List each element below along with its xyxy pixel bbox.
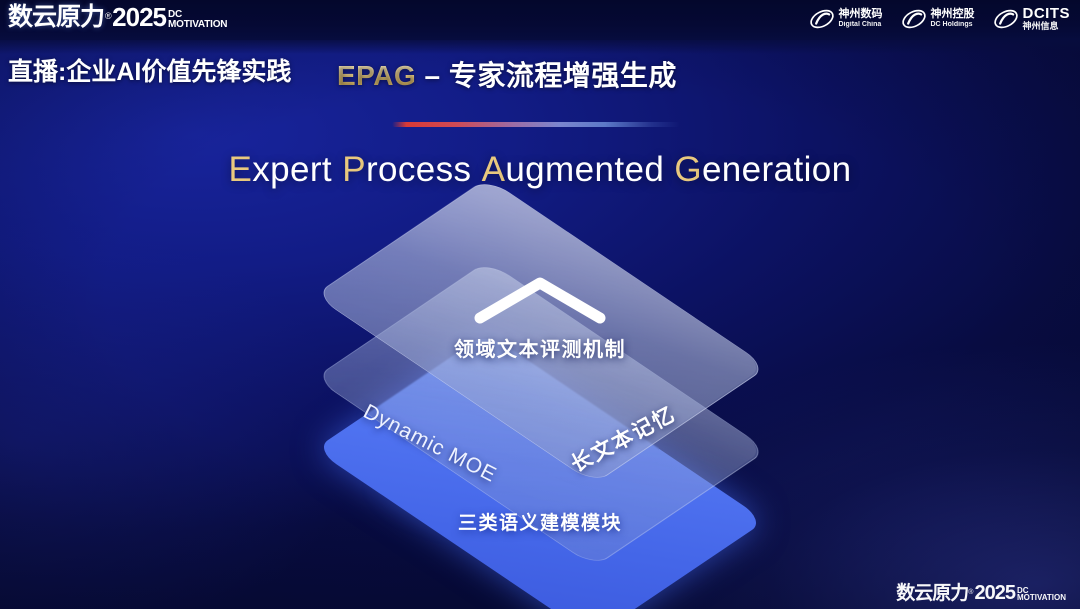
partner-logo-group: 神州数码 Digital China 神州控股 DC Holdings DCIT…	[809, 6, 1071, 31]
partner-logo-dcits: DCITS 神州信息	[993, 6, 1071, 31]
brand-logo: 数云原力 ® 2025 DC MOTIVATION	[8, 4, 227, 30]
slide-title: EPAG – 专家流程增强生成	[337, 54, 677, 94]
chevron-up-icon	[470, 272, 610, 328]
watermark-dc-line2: MOTIVATION	[1017, 594, 1066, 602]
gradient-divider	[392, 122, 680, 127]
partner-name-en: DC Holdings	[931, 21, 975, 28]
watermark-name-cn: 数云原力	[896, 584, 968, 603]
swirl-logo-icon	[901, 7, 927, 31]
brand-dc-line2: MOTIVATION	[168, 20, 227, 30]
slide-title-acronym: EPAG	[337, 60, 416, 91]
partner-logo-digital-china: 神州数码 Digital China	[809, 7, 883, 31]
brand-registered-mark: ®	[105, 11, 111, 21]
stack-layer-top-caption: 领域文本评测机制	[0, 333, 1080, 362]
watermark-logo: 数云原力 ® 2025 DC MOTIVATION	[896, 583, 1066, 603]
live-stream-title: 直播:企业AI价值先锋实践	[8, 52, 291, 88]
slide-title-dash: –	[416, 60, 449, 91]
swirl-logo-icon	[809, 7, 835, 31]
partner-logo-dc-holdings: 神州控股 DC Holdings	[901, 7, 975, 31]
headline-rest-expert: xpert	[252, 150, 332, 189]
partner-name-cn: 神州控股	[931, 9, 975, 21]
headline-rest-process: rocess	[366, 150, 472, 189]
watermark-registered-mark: ®	[968, 589, 973, 596]
slide-root: 数云原力 ® 2025 DC MOTIVATION 神州数码 Digital C…	[0, 0, 1080, 609]
partner-name-cn: DCITS	[1023, 6, 1071, 22]
slide-title-subtitle: 专家流程增强生成	[449, 60, 677, 91]
brand-dc-motivation: DC MOTIVATION	[168, 10, 227, 29]
partner-name-en: Digital China	[839, 21, 883, 28]
partner-label-dcits: DCITS 神州信息	[1023, 6, 1071, 31]
headline-cap-p: P	[342, 150, 366, 189]
headline-rest-augmented: ugmented	[505, 150, 664, 189]
partner-label-dc-holdings: 神州控股 DC Holdings	[931, 9, 975, 28]
brand-name-cn: 数云原力	[8, 5, 104, 30]
headline-cap-g: G	[674, 150, 702, 189]
headline-cap-e: E	[229, 150, 253, 189]
stack-layer-bottom-caption: 三类语义建模模块	[0, 508, 1080, 535]
headline-rest-generation: eneration	[702, 150, 852, 189]
partner-name-en: 神州信息	[1023, 22, 1071, 31]
watermark-year: 2025	[974, 583, 1015, 603]
headline-expansion: Expert Process Augmented Generation	[0, 150, 1080, 190]
swirl-logo-icon	[993, 7, 1019, 31]
partner-label-digital-china: 神州数码 Digital China	[839, 9, 883, 28]
brand-year: 2025	[112, 4, 166, 30]
partner-name-cn: 神州数码	[839, 9, 883, 21]
watermark-dc-motivation: DC MOTIVATION	[1017, 587, 1066, 602]
